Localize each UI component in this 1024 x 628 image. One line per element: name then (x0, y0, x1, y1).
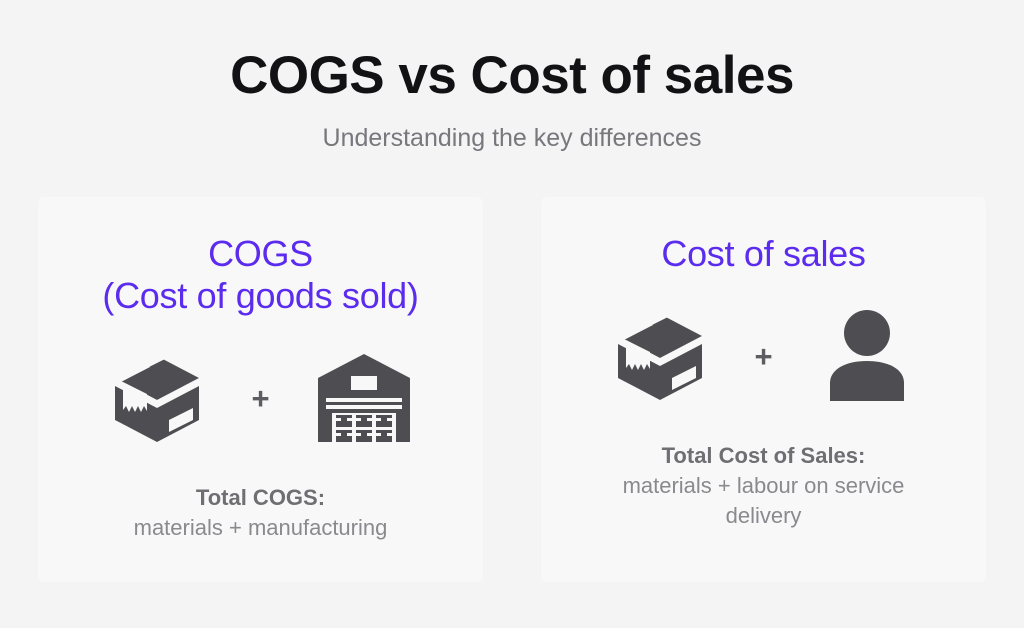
plus-separator-cogs: + (251, 383, 269, 414)
comparison-cards: COGS (Cost of goods sold) (38, 197, 986, 582)
card-cost-of-sales: Cost of sales + (541, 197, 986, 582)
cardboard-box-icon (105, 346, 209, 450)
card-cogs-caption-label: Total COGS: (134, 483, 388, 513)
card-cogs: COGS (Cost of goods sold) (38, 197, 483, 582)
page-subtitle: Understanding the key differences (0, 105, 1024, 153)
card-cost-of-sales-caption-label: Total Cost of Sales: (594, 441, 934, 471)
card-cogs-caption: Total COGS: materials + manufacturing (134, 483, 388, 543)
person-icon (815, 304, 919, 408)
cardboard-box-icon (608, 304, 712, 408)
warehouse-icon (312, 346, 416, 450)
page-title: COGS vs Cost of sales (0, 0, 1024, 105)
card-cost-of-sales-icon-row: + (608, 301, 918, 411)
card-cogs-heading: COGS (Cost of goods sold) (102, 233, 418, 317)
card-cogs-caption-text: materials + manufacturing (134, 513, 388, 543)
card-cogs-icon-row: + (105, 343, 415, 453)
card-cost-of-sales-caption: Total Cost of Sales: materials + labour … (594, 441, 934, 531)
infographic-canvas: COGS vs Cost of sales Understanding the … (0, 0, 1024, 628)
plus-separator-cost-of-sales: + (754, 341, 772, 372)
header: COGS vs Cost of sales Understanding the … (0, 0, 1024, 153)
card-cost-of-sales-heading: Cost of sales (661, 233, 865, 275)
card-cost-of-sales-caption-text: materials + labour on service delivery (594, 471, 934, 531)
card-cogs-heading-line1: COGS (208, 233, 313, 274)
card-cogs-heading-line2: (Cost of goods sold) (102, 275, 418, 317)
